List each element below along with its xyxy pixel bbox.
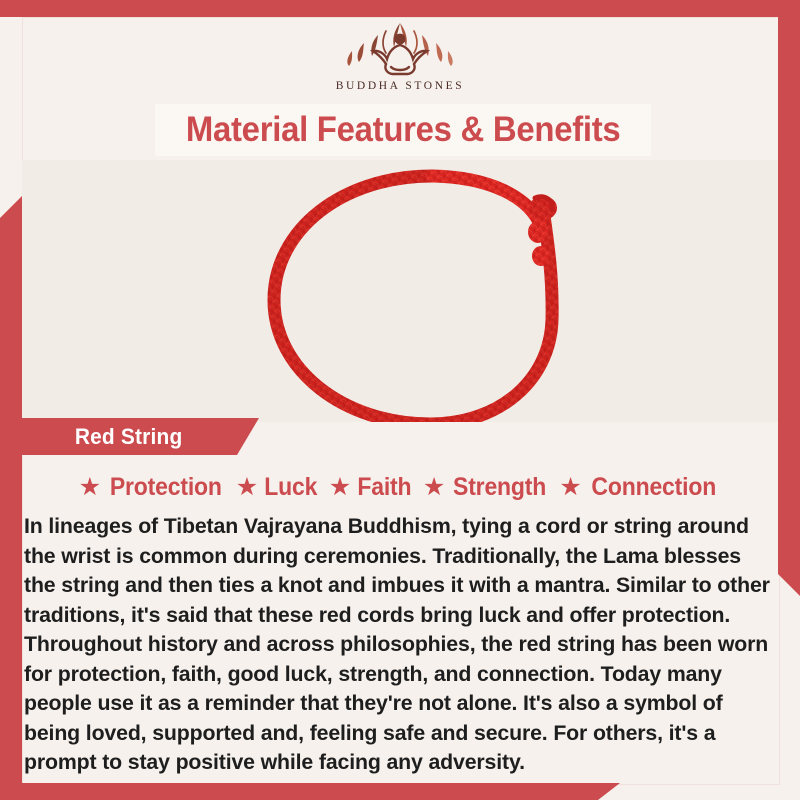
benefit-item-luck: ★ Luck	[236, 473, 320, 502]
star-icon: ★	[329, 475, 351, 500]
left-accent-bar	[0, 196, 22, 786]
description-text: In lineages of Tibetan Vajrayana Buddhis…	[24, 512, 772, 778]
star-icon: ★	[559, 475, 581, 500]
brand-name: BUDDHA STONES	[336, 80, 464, 92]
star-icon: ★	[236, 475, 258, 500]
page-title: Material Features & Benefits	[186, 110, 621, 150]
benefits-list: ★ Protection ★ Luck ★ Faith ★ Strength ★…	[22, 466, 778, 508]
title-banner: Material Features & Benefits	[155, 104, 651, 156]
benefit-label: Luck	[264, 473, 317, 502]
benefit-label: Strength	[453, 473, 546, 502]
benefit-item-connection: ★ Connection	[559, 473, 721, 502]
red-string-bracelet-illustration	[232, 160, 612, 422]
benefit-item-strength: ★ Strength	[423, 473, 551, 502]
benefit-item-protection: ★ Protection	[79, 473, 227, 502]
benefit-item-faith: ★ Faith	[329, 473, 414, 502]
top-accent-bar	[0, 0, 800, 17]
section-ribbon: Red String	[14, 418, 259, 455]
brand-logo: BUDDHA STONES	[0, 17, 800, 105]
lotus-meditation-figure-icon	[334, 17, 466, 79]
star-icon: ★	[79, 475, 101, 500]
product-image	[22, 160, 778, 422]
section-title: Red String	[75, 424, 183, 450]
star-icon: ★	[423, 475, 445, 500]
poster: BUDDHA STONES Material Features & Benefi…	[0, 0, 800, 800]
benefit-label: Connection	[591, 473, 716, 502]
bottom-accent-bar	[0, 783, 620, 800]
benefit-label: Protection	[110, 473, 222, 502]
benefit-label: Faith	[357, 473, 411, 502]
